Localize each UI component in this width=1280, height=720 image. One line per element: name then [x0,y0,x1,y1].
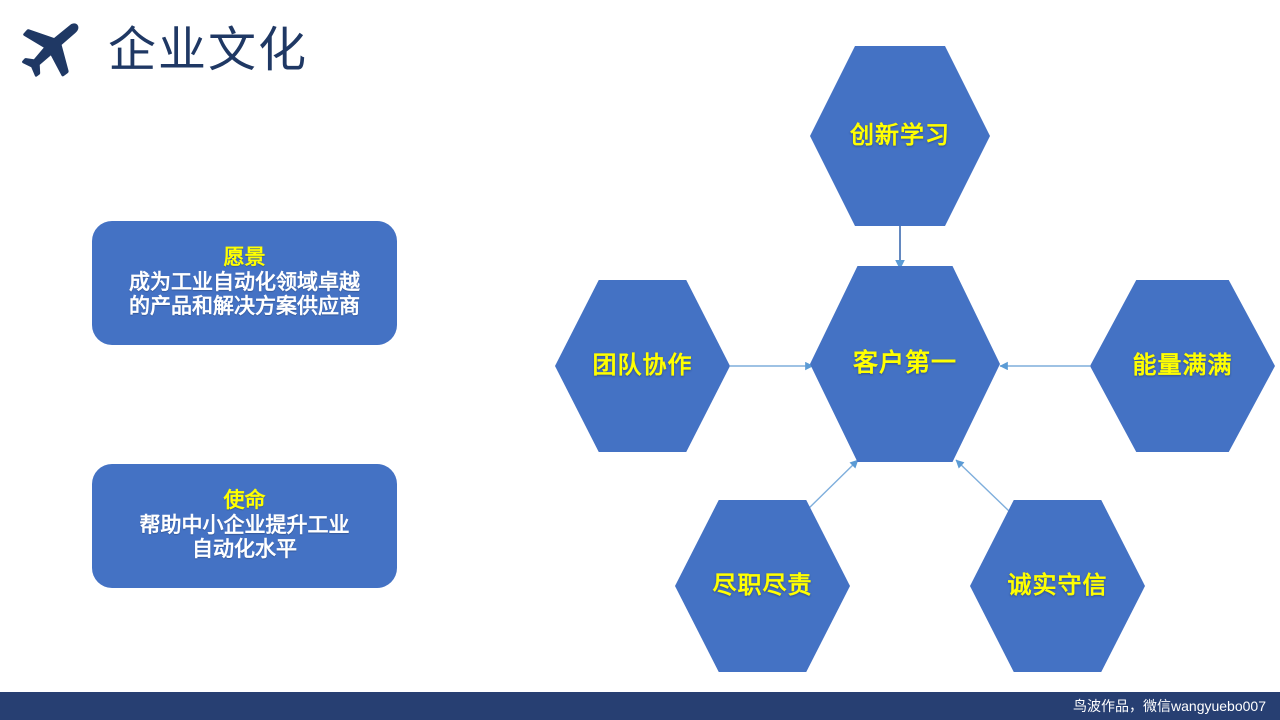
connector-bottomright-to-center [956,460,1010,512]
vision-card-heading: 愿景 [224,246,266,270]
hexagon-label: 创新学习 [850,123,950,149]
mission-card-line-2: 自动化水平 [192,538,297,563]
hexagon-label: 尽职尽责 [713,573,813,599]
hexagon-label: 团队协作 [593,353,693,379]
airplane-icon [18,18,90,90]
culture-hexagon-diagram: 创新学习 团队协作 客户第一 能量满满 尽职尽责 诚实守信 [540,20,1280,680]
mission-card-line-1: 帮助中小企业提升工业 [140,514,350,539]
connector-bottomleft-to-center [805,460,858,512]
page-title: 企业文化 [108,27,308,81]
mission-card[interactable]: 使命 帮助中小企业提升工业 自动化水平 [92,464,397,588]
hexagon-label: 客户第一 [853,350,957,378]
slide-canvas: 企业文化 愿景 成为工业自动化领域卓越 的产品和解决方案供应商 使命 帮助中小企… [0,0,1280,720]
hexagon-label: 诚实守信 [1008,573,1108,599]
vision-card[interactable]: 愿景 成为工业自动化领域卓越 的产品和解决方案供应商 [92,221,397,345]
hexagon-label: 能量满满 [1133,353,1233,379]
footer-credit-text: 鸟波作品，微信wangyuebo007 [1073,699,1280,713]
footer-bar: 鸟波作品，微信wangyuebo007 [0,692,1280,720]
vision-card-line-1: 成为工业自动化领域卓越 [129,271,360,296]
mission-card-heading: 使命 [224,489,266,513]
vision-card-line-2: 的产品和解决方案供应商 [129,295,360,320]
slide-header: 企业文化 [18,18,308,90]
